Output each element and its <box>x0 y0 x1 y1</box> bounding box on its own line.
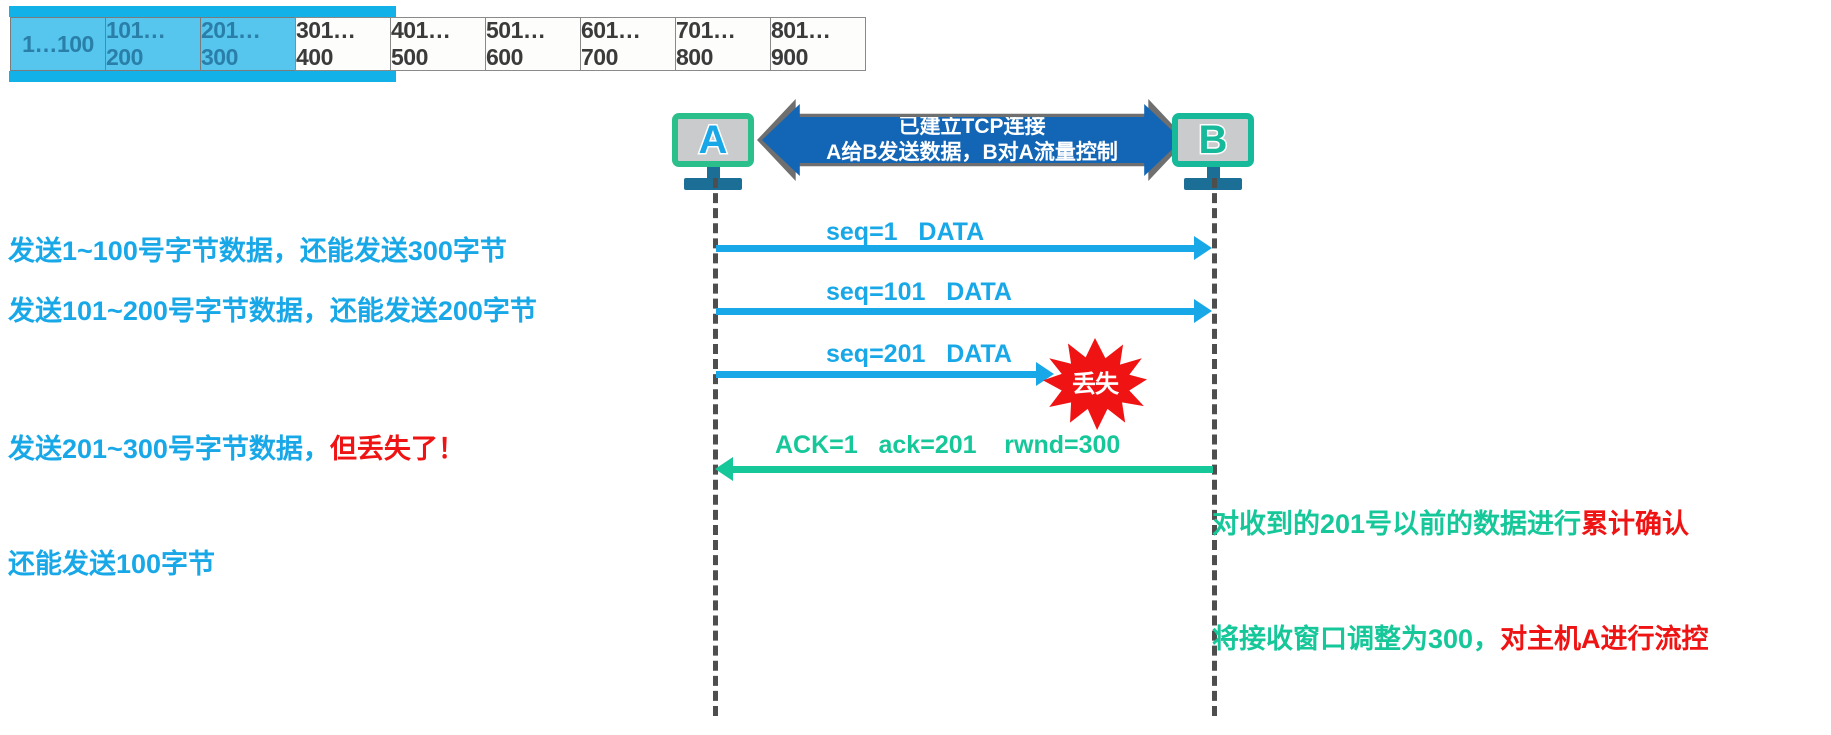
host-b-label: B <box>1199 120 1228 160</box>
arrow-shaft <box>716 308 1194 315</box>
note-text-plain: 将接收窗口调整为300， <box>1212 624 1500 654</box>
monitor-neck <box>707 167 720 178</box>
diagram-canvas: 1…100 101…200 201…300 301…400 401…500 50… <box>0 0 1831 716</box>
byte-cell: 401…500 <box>390 17 486 71</box>
banner-line-2: A给B发送数据，B对A流量控制 <box>826 140 1118 166</box>
monitor-neck <box>1207 167 1220 178</box>
byte-cell: 701…800 <box>675 17 771 71</box>
note-text-emphasis: 但丢失了！ <box>330 434 465 464</box>
note-line-2: 还能发送100字节 <box>8 545 465 583</box>
send-window-band-top <box>9 6 396 17</box>
note-send-101-200: 发送101~200号字节数据，还能发送200字节 <box>8 292 537 330</box>
note-text-emphasis: 累计确认 <box>1581 509 1689 539</box>
byte-cell: 501…600 <box>485 17 581 71</box>
byte-cell: 601…700 <box>580 17 676 71</box>
byte-cell: 201…300 <box>200 17 296 71</box>
lifeline-a <box>713 178 718 716</box>
arrow-head-left-icon <box>715 457 733 481</box>
message-label: ACK=1 ack=201 rwnd=300 <box>775 431 1120 460</box>
note-text-emphasis: 对主机A进行流控 <box>1500 624 1709 654</box>
loss-burst-label: 丢失 <box>1072 364 1118 399</box>
monitor-icon: B <box>1172 113 1254 167</box>
note-send-1-100: 发送1~100号字节数据，还能发送300字节 <box>8 232 507 270</box>
note-receiver-ack: 对收到的201号以前的数据进行累计确认 将接收窗口调整为300，对主机A进行流控 <box>1212 428 1709 735</box>
message-label: seq=201 DATA <box>826 340 1012 369</box>
byte-cell: 1…100 <box>10 17 106 71</box>
note-line-1: 对收到的201号以前的数据进行累计确认 <box>1212 505 1709 543</box>
message-label: seq=101 DATA <box>826 278 1012 307</box>
note-text-plain: 发送201~300号字节数据， <box>8 434 330 464</box>
note-text-plain: 对收到的201号以前的数据进行 <box>1212 509 1581 539</box>
note-line-2: 将接收窗口调整为300，对主机A进行流控 <box>1212 620 1709 658</box>
byte-cell: 301…400 <box>295 17 391 71</box>
banner-line-1: 已建立TCP连接 <box>899 114 1046 140</box>
monitor-icon: A <box>672 113 754 167</box>
arrow-shaft <box>716 371 1036 378</box>
byte-cell: 801…900 <box>770 17 866 71</box>
message-label: seq=1 DATA <box>826 218 984 247</box>
arrow-shaft <box>733 466 1213 473</box>
arrow-head-right-icon <box>1194 299 1212 323</box>
host-a-label: A <box>699 120 728 160</box>
note-line-1: 发送201~300号字节数据，但丢失了！ <box>8 430 465 468</box>
byte-cell: 101…200 <box>105 17 201 71</box>
packet-loss-burst-icon: 丢失 <box>1043 338 1147 430</box>
send-window-band-bottom <box>9 71 396 82</box>
note-send-201-300: 发送201~300号字节数据，但丢失了！ 还能发送100字节 <box>8 353 465 660</box>
arrow-head-right-icon <box>1194 236 1212 260</box>
arrow-shaft <box>716 245 1194 252</box>
byte-range-table: 1…100 101…200 201…300 301…400 401…500 50… <box>10 17 866 71</box>
